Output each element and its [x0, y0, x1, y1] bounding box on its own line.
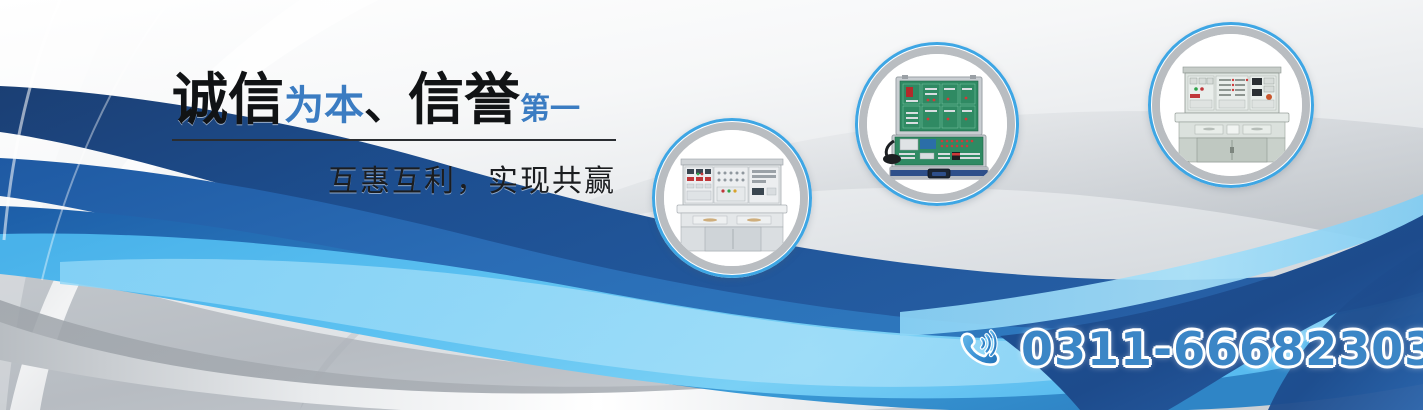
contact-block[interactable]: 0311-66682303 — [955, 322, 1423, 376]
product-circle-3[interactable] — [1148, 22, 1314, 188]
headline-punctuation: 、 — [364, 80, 408, 129]
motor-repair-bench-icon — [1163, 37, 1299, 173]
headline-divider — [172, 139, 616, 141]
promo-banner: 诚信为本、信誉第一 互惠互利，实现共赢 — [0, 0, 1423, 410]
headline-part-2: 为本 — [284, 84, 364, 128]
product-image-1 — [664, 130, 800, 266]
page-title: 诚信为本、信誉第一 — [172, 72, 622, 128]
product-image-2 — [867, 54, 1007, 194]
headline-part-3: 信誉 — [408, 68, 520, 131]
phone-number[interactable]: 0311-66682303 — [1021, 322, 1423, 376]
electronics-training-case-icon — [870, 57, 1004, 191]
phone-call-icon[interactable] — [955, 323, 1007, 375]
electrical-workbench-icon — [667, 133, 797, 263]
subtitle: 互惠互利，实现共赢 — [172, 156, 616, 200]
headline-part-4: 第一 — [520, 93, 580, 126]
headline-part-1: 诚信 — [172, 68, 284, 131]
product-circle-2[interactable] — [855, 42, 1019, 206]
product-circle-1[interactable] — [652, 118, 812, 278]
product-image-3 — [1160, 34, 1302, 176]
headline-block: 诚信为本、信誉第一 互惠互利，实现共赢 — [172, 72, 622, 200]
